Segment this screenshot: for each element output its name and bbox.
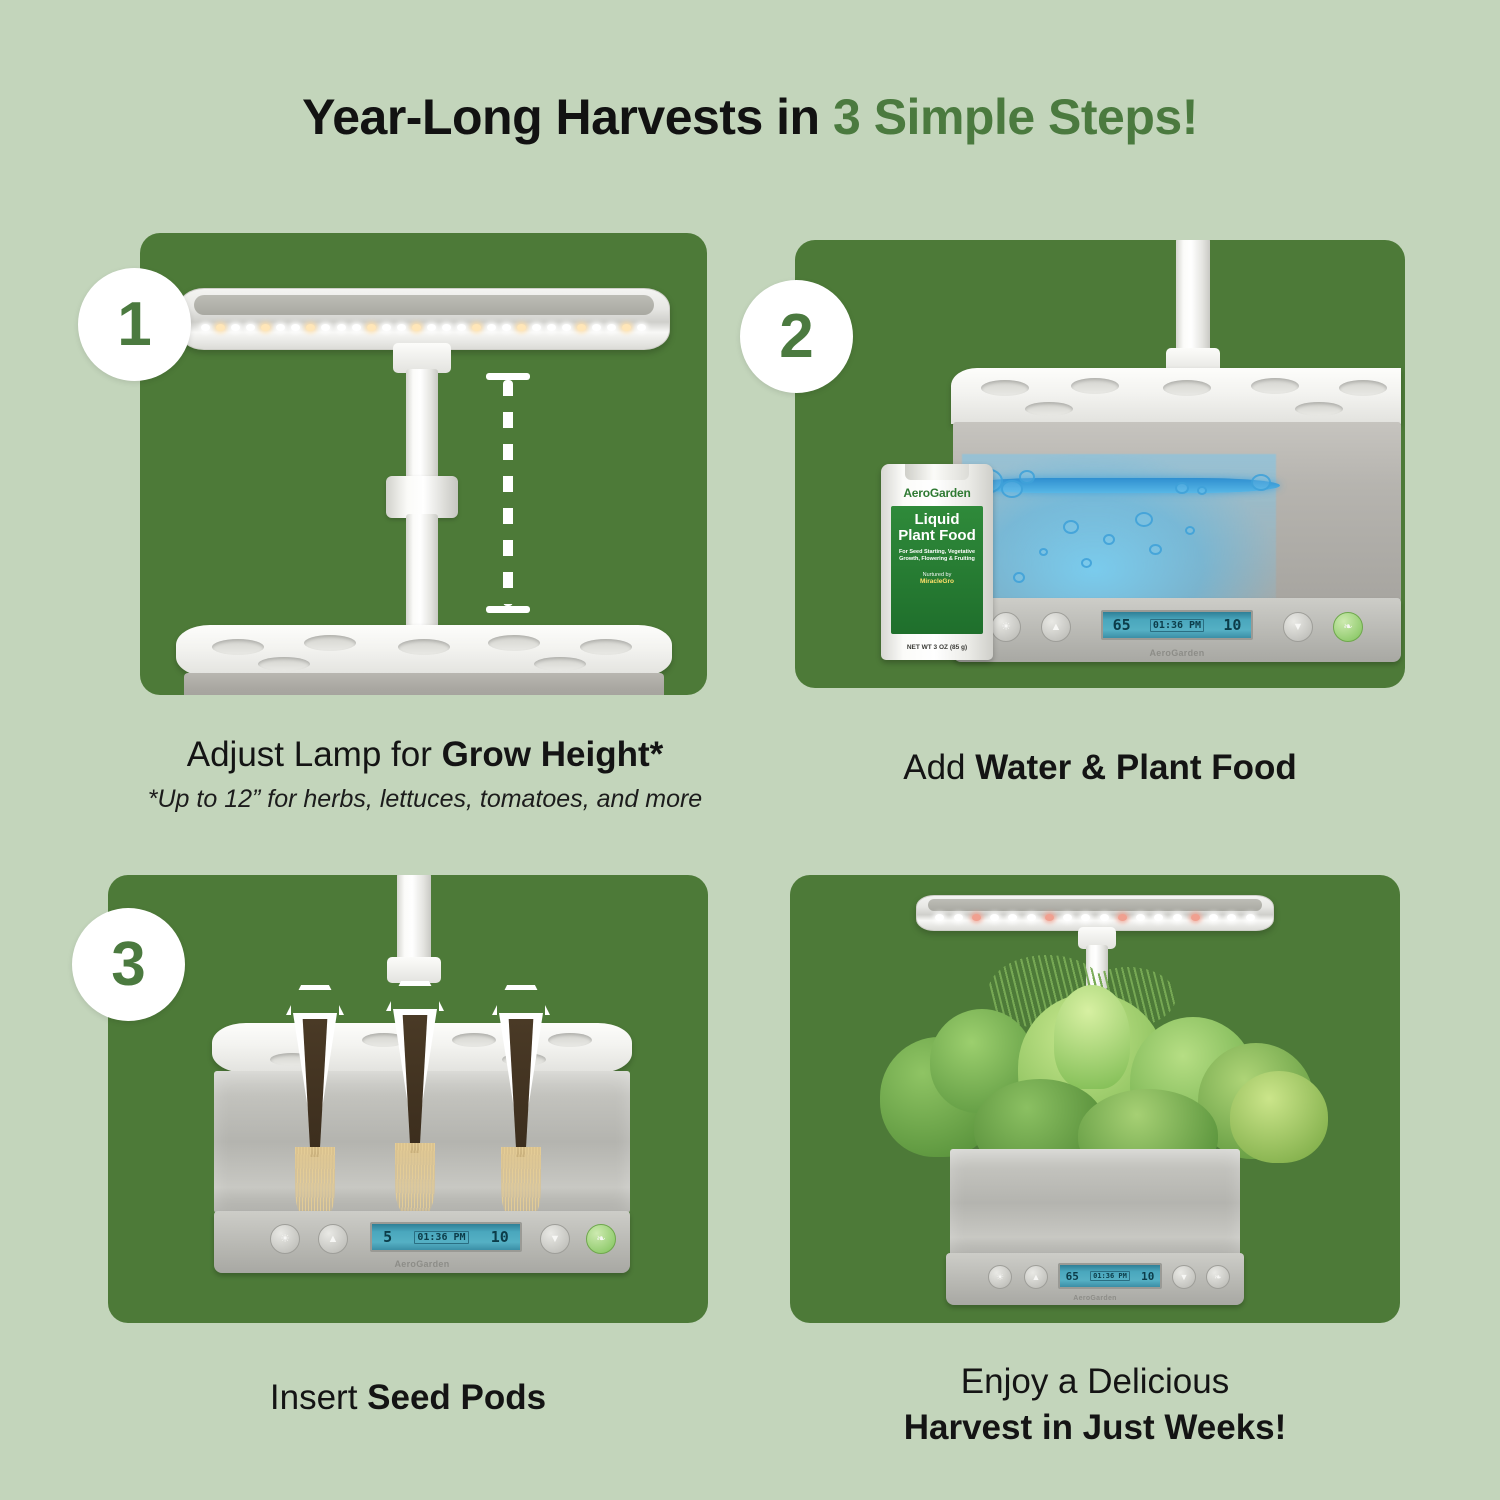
lcd-display: 5 01:36 PM 10 xyxy=(370,1222,522,1252)
bubble-icon xyxy=(1175,482,1189,494)
seed-pod-hole[interactable] xyxy=(488,635,540,651)
led-icon xyxy=(306,324,315,331)
seed-pod-hole[interactable] xyxy=(1251,378,1299,394)
lcd-display: 65 01:36 PM 10 xyxy=(1101,610,1253,640)
led-icon xyxy=(1118,914,1127,921)
pod-roots xyxy=(395,1143,435,1221)
bubble-icon xyxy=(1251,474,1271,491)
led-icon xyxy=(1191,914,1200,921)
step-number: 1 xyxy=(117,289,151,360)
led-icon xyxy=(337,324,346,331)
chevron-up-icon: ▲ xyxy=(1051,622,1062,633)
caption-lead: Insert xyxy=(270,1378,367,1417)
led-icon xyxy=(457,324,466,331)
led-icon xyxy=(276,324,285,331)
bottle-description: For Seed Starting, Vegetative Growth, Fl… xyxy=(895,549,979,564)
lcd-left-value: 65 xyxy=(1113,616,1131,634)
bubble-icon xyxy=(1013,572,1025,583)
led-icon xyxy=(1081,914,1090,921)
step-3-caption: Insert Seed Pods xyxy=(108,1378,708,1418)
led-icon xyxy=(577,324,586,331)
seed-pod[interactable] xyxy=(380,981,450,1229)
caption-bold: Seed Pods xyxy=(367,1378,546,1417)
title-lead: Year-Long Harvests in xyxy=(302,89,833,145)
bottle-cap xyxy=(905,464,969,480)
led-icon xyxy=(427,324,436,331)
down-button[interactable]: ▼ xyxy=(540,1224,570,1254)
sun-icon: ☀ xyxy=(280,1234,290,1245)
water-reservoir xyxy=(953,422,1401,602)
down-button[interactable]: ▼ xyxy=(1172,1265,1196,1289)
step-number-badge-2: 2 xyxy=(740,280,853,393)
led-icon xyxy=(261,324,270,331)
basil-leaf xyxy=(1054,985,1130,1089)
pod-handle xyxy=(492,985,550,1015)
seed-pod-hole[interactable] xyxy=(1295,402,1343,416)
lcd-display: 65 01:36 PM 10 xyxy=(1058,1263,1162,1289)
control-panel: ☀ ▲ 65 01:36 PM 10 ▼ ❧ AeroGarden xyxy=(946,1253,1244,1305)
brand-label: AeroGarden xyxy=(214,1259,630,1269)
led-icon xyxy=(487,324,496,331)
step-4-caption-line2: Harvest in Just Weeks! xyxy=(790,1408,1400,1448)
led-icon xyxy=(532,324,541,331)
led-icon xyxy=(1027,914,1036,921)
grow-lamp-hood xyxy=(916,895,1274,931)
grow-height-measure xyxy=(486,373,530,613)
step-4-image-panel: ☀ ▲ 65 01:36 PM 10 ▼ ❧ AeroGarden xyxy=(790,875,1400,1323)
pod-handle xyxy=(286,985,344,1015)
lamp-pole-mount xyxy=(387,957,441,983)
lcd-time: 01:36 PM xyxy=(1090,1271,1130,1281)
seed-pod-hole[interactable] xyxy=(580,639,632,655)
chevron-down-icon: ▼ xyxy=(1293,622,1304,633)
up-button[interactable]: ▲ xyxy=(318,1224,348,1254)
light-button[interactable]: ☀ xyxy=(988,1265,1012,1289)
caption-bold: Grow Height* xyxy=(442,735,664,774)
up-button[interactable]: ▲ xyxy=(1041,612,1071,642)
led-icon xyxy=(1246,914,1255,921)
step-1-image-panel xyxy=(140,233,707,695)
measure-dashed-line xyxy=(503,380,513,606)
up-button[interactable]: ▲ xyxy=(1024,1265,1048,1289)
led-array xyxy=(931,911,1259,925)
measure-top-cap xyxy=(486,373,530,380)
control-panel: ☀ ▲ 5 01:36 PM 10 ▼ ❧ AeroGarden xyxy=(214,1211,630,1273)
lcd-time: 01:36 PM xyxy=(1150,619,1204,632)
led-icon xyxy=(1209,914,1218,921)
step-1-caption: Adjust Lamp for Grow Height* xyxy=(0,735,850,775)
led-icon xyxy=(352,324,361,331)
infographic-page: Year-Long Harvests in 3 Simple Steps! xyxy=(0,0,1500,1500)
seed-pod[interactable] xyxy=(486,985,556,1229)
step-number-badge-3: 3 xyxy=(72,908,185,1021)
bottle-brand: AeroGarden xyxy=(881,486,993,500)
led-icon xyxy=(990,914,999,921)
led-icon xyxy=(637,324,646,331)
lcd-right-value: 10 xyxy=(1141,1270,1154,1283)
bottle-product-line1: Liquid xyxy=(895,512,979,528)
bubble-icon xyxy=(1039,548,1048,556)
bubble-icon xyxy=(1103,534,1115,545)
step-2-image-panel: ☀ ▲ 65 01:36 PM 10 ▼ ❧ AeroGarden AeroGa… xyxy=(795,240,1405,688)
led-array xyxy=(199,315,650,339)
led-icon xyxy=(412,324,421,331)
step-2-caption: Add Water & Plant Food xyxy=(795,748,1405,788)
led-icon xyxy=(397,324,406,331)
pod-handle xyxy=(386,981,444,1011)
led-icon xyxy=(547,324,556,331)
lamp-height-adjust-collar[interactable] xyxy=(386,476,458,518)
led-icon xyxy=(442,324,451,331)
partner-brand-logo: MiracleGro xyxy=(895,578,979,585)
bubble-icon xyxy=(1063,520,1079,534)
seed-pod-hole[interactable] xyxy=(534,657,586,671)
plant-food-button[interactable]: ❧ xyxy=(1333,612,1363,642)
seed-pod-hole[interactable] xyxy=(398,639,450,655)
led-icon xyxy=(592,324,601,331)
water-bowl xyxy=(184,673,664,695)
leaf-icon: ❧ xyxy=(596,1234,605,1245)
lamp-pole xyxy=(406,369,438,489)
lcd-left-value: 5 xyxy=(383,1228,392,1246)
led-icon xyxy=(1008,914,1017,921)
page-title: Year-Long Harvests in 3 Simple Steps! xyxy=(0,88,1500,146)
seed-pod-hole[interactable] xyxy=(1339,380,1387,396)
step-3-image-panel: ☀ ▲ 5 01:36 PM 10 ▼ ❧ AeroGarden xyxy=(108,875,708,1323)
brand-label: AeroGarden xyxy=(946,1295,1244,1302)
led-icon xyxy=(216,324,225,331)
seed-pod-hole[interactable] xyxy=(1163,380,1211,396)
caption-lead: Adjust Lamp for xyxy=(187,735,442,774)
step-number: 2 xyxy=(779,301,813,372)
bubble-icon xyxy=(1185,526,1195,535)
measure-bottom-cap xyxy=(486,606,530,613)
title-accent: 3 Simple Steps! xyxy=(833,89,1198,145)
seed-pod-hole[interactable] xyxy=(981,380,1029,396)
led-icon xyxy=(972,914,981,921)
bottle-net-weight: NET WT 3 OZ (85 g) xyxy=(881,644,993,651)
led-icon xyxy=(1227,914,1236,921)
lcd-right-value: 10 xyxy=(491,1228,509,1246)
led-icon xyxy=(502,324,511,331)
led-icon xyxy=(472,324,481,331)
plant-food-bottle: AeroGarden Liquid Plant Food For Seed St… xyxy=(881,464,993,660)
led-icon xyxy=(1100,914,1109,921)
herb-plants xyxy=(868,951,1328,1165)
plant-food-button[interactable]: ❧ xyxy=(1206,1265,1230,1289)
bubble-icon xyxy=(1001,480,1023,498)
caption-lead: Add xyxy=(903,748,975,787)
chevron-up-icon: ▲ xyxy=(1032,1273,1041,1282)
bubble-icon xyxy=(1149,544,1162,555)
chevron-up-icon: ▲ xyxy=(328,1234,339,1245)
water-reservoir xyxy=(950,1149,1240,1257)
led-icon xyxy=(231,324,240,331)
led-icon xyxy=(1045,914,1054,921)
lamp-hood-top xyxy=(194,295,655,315)
leaf-icon: ❧ xyxy=(1214,1273,1222,1282)
led-icon xyxy=(622,324,631,331)
lcd-time: 01:36 PM xyxy=(414,1231,468,1244)
led-icon xyxy=(291,324,300,331)
bubble-icon xyxy=(1135,512,1153,527)
step-1-subcaption: *Up to 12” for herbs, lettuces, tomatoes… xyxy=(0,785,850,814)
step-number: 3 xyxy=(111,929,145,1000)
led-icon xyxy=(1173,914,1182,921)
led-icon xyxy=(321,324,330,331)
led-icon xyxy=(954,914,963,921)
grow-lamp-hood xyxy=(178,288,670,350)
seed-pod-hole[interactable] xyxy=(258,657,310,671)
control-panel: ☀ ▲ 65 01:36 PM 10 ▼ ❧ AeroGarden xyxy=(953,598,1401,662)
chevron-down-icon: ▼ xyxy=(550,1234,561,1245)
led-icon xyxy=(1136,914,1145,921)
water-fill xyxy=(962,454,1276,602)
led-icon xyxy=(607,324,616,331)
sun-icon: ☀ xyxy=(996,1273,1004,1282)
bottle-nurtured-by: Nurtured by xyxy=(895,572,979,578)
chevron-down-icon: ▼ xyxy=(1180,1273,1189,1282)
led-icon xyxy=(517,324,526,331)
seed-pod-hole[interactable] xyxy=(1025,402,1073,416)
bottle-product-line2: Plant Food xyxy=(895,528,979,544)
caption-bold: Water & Plant Food xyxy=(975,748,1296,787)
light-button[interactable]: ☀ xyxy=(270,1224,300,1254)
seed-pod-hole[interactable] xyxy=(212,639,264,655)
led-icon xyxy=(1063,914,1072,921)
bubble-icon xyxy=(1197,486,1207,495)
down-button[interactable]: ▼ xyxy=(1283,612,1313,642)
sun-icon: ☀ xyxy=(1001,622,1011,633)
parsley-cluster xyxy=(1230,1071,1328,1163)
led-icon xyxy=(367,324,376,331)
seed-pod[interactable] xyxy=(280,985,350,1229)
led-icon xyxy=(201,324,210,331)
lamp-hood-top xyxy=(928,899,1263,911)
step-4-caption-line1: Enjoy a Delicious xyxy=(790,1362,1400,1402)
lcd-right-value: 10 xyxy=(1223,616,1241,634)
seed-pod-hole[interactable] xyxy=(304,635,356,651)
brand-label: AeroGarden xyxy=(953,648,1401,658)
bottle-label: Liquid Plant Food For Seed Starting, Veg… xyxy=(891,506,983,634)
led-icon xyxy=(562,324,571,331)
led-icon xyxy=(935,914,944,921)
light-button[interactable]: ☀ xyxy=(991,612,1021,642)
led-icon xyxy=(382,324,391,331)
led-icon xyxy=(1154,914,1163,921)
lcd-left-value: 65 xyxy=(1066,1270,1079,1283)
bubble-icon xyxy=(1081,558,1092,568)
step-number-badge-1: 1 xyxy=(78,268,191,381)
led-icon xyxy=(246,324,255,331)
leaf-icon: ❧ xyxy=(1343,622,1352,633)
grow-deck xyxy=(176,625,672,677)
grow-deck xyxy=(951,368,1401,424)
seed-pod-hole[interactable] xyxy=(1071,378,1119,394)
plant-food-button[interactable]: ❧ xyxy=(586,1224,616,1254)
bubble-icon xyxy=(1019,470,1035,484)
